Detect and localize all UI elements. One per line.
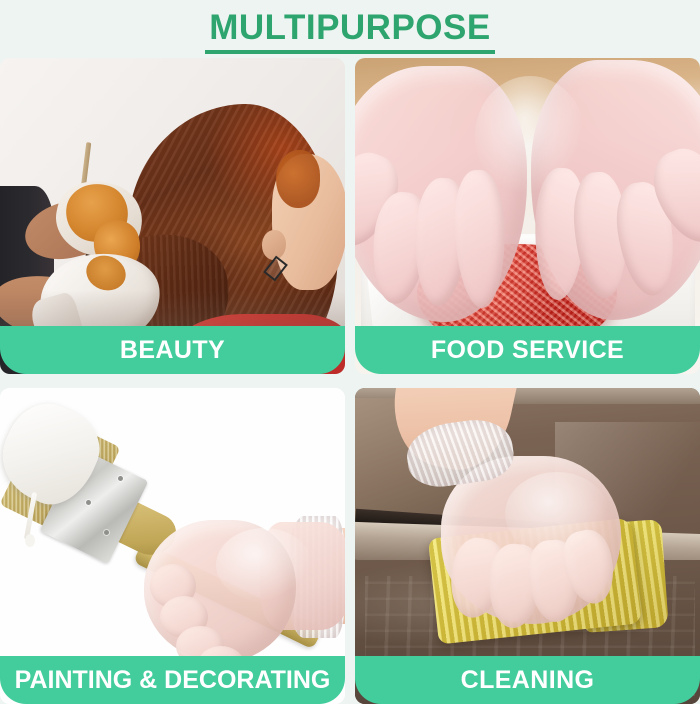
use-case-label-cleaning: CLEANING bbox=[461, 666, 595, 695]
use-case-card-painting-decorating[interactable]: PAINTING & DECORATING bbox=[0, 388, 345, 704]
page-title-wrapper: MULTIPURPOSE bbox=[0, 10, 700, 54]
use-case-card-cleaning[interactable]: CLEANING bbox=[355, 388, 700, 704]
dye-on-hairline bbox=[276, 150, 320, 208]
use-case-card-food-service[interactable]: FOOD SERVICE bbox=[355, 58, 700, 374]
use-case-card-beauty[interactable]: BEAUTY bbox=[0, 58, 345, 374]
page-title: MULTIPURPOSE bbox=[205, 10, 494, 54]
use-case-banner-cleaning[interactable]: CLEANING bbox=[355, 656, 700, 704]
use-case-label-beauty: BEAUTY bbox=[120, 336, 225, 365]
use-case-banner-beauty[interactable]: BEAUTY bbox=[0, 326, 345, 374]
photo-bottom-shadow bbox=[0, 290, 345, 326]
use-case-grid: BEAUTY bbox=[0, 58, 700, 700]
use-case-banner-food-service[interactable]: FOOD SERVICE bbox=[355, 326, 700, 374]
ferrule-rivet-1 bbox=[86, 500, 91, 505]
paint-drip-droplet bbox=[25, 534, 35, 547]
glove-highlight-food bbox=[475, 76, 585, 196]
use-case-banner-painting-decorating[interactable]: PAINTING & DECORATING bbox=[0, 656, 345, 704]
glove-highlight-painting bbox=[216, 528, 312, 602]
infographic-page: MULTIPURPOSE bbox=[0, 0, 700, 700]
use-case-label-food-service: FOOD SERVICE bbox=[431, 336, 624, 365]
ferrule-rivet-3 bbox=[118, 476, 123, 481]
ferrule-rivet-2 bbox=[104, 530, 109, 535]
glove-highlight-cleaning bbox=[505, 472, 609, 556]
use-case-label-painting-decorating: PAINTING & DECORATING bbox=[15, 666, 331, 695]
